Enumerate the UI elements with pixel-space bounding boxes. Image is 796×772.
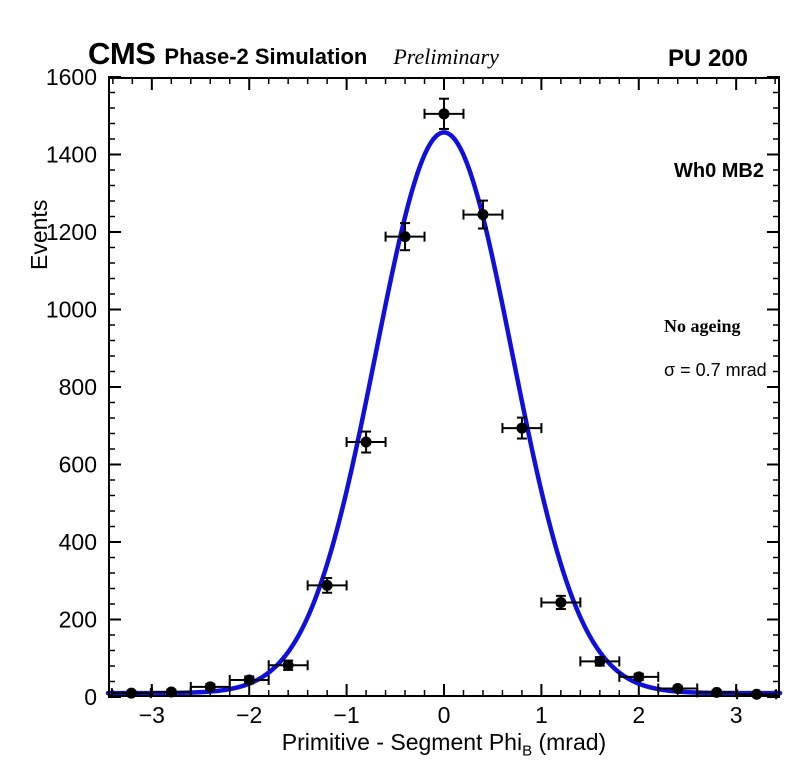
data-point — [751, 689, 762, 700]
data-point — [555, 597, 566, 608]
data-point — [594, 656, 605, 667]
svg-text:2: 2 — [632, 702, 645, 728]
gaussian-fit-curve — [108, 132, 780, 693]
y-tick-label: 1400 — [46, 142, 97, 168]
svg-text:1: 1 — [535, 702, 548, 728]
cms-subtitle: Phase-2 Simulation — [164, 46, 367, 68]
data-point — [244, 674, 255, 685]
svg-text:−2: −2 — [236, 702, 262, 728]
svg-text:−1: −1 — [333, 702, 359, 728]
data-point — [361, 437, 372, 448]
cms-logo: CMS — [88, 38, 155, 69]
y-tick-label: 1200 — [46, 219, 97, 245]
pileup-label: PU 200 — [668, 47, 748, 71]
y-tick-label: 600 — [59, 452, 97, 478]
axis-tick-labels: −3−2−1012302004006008001000120014001600 — [46, 64, 743, 728]
scenario-label: No ageing — [664, 316, 741, 337]
error-bars — [112, 99, 776, 700]
svg-text:0: 0 — [438, 702, 451, 728]
svg-text:3: 3 — [730, 702, 743, 728]
x-axis-title: Primitive - Segment PhiB (mrad) — [108, 729, 780, 756]
phi-subscript: B — [522, 743, 532, 760]
y-tick-label: 800 — [59, 374, 97, 400]
svg-text:−3: −3 — [139, 702, 165, 728]
y-tick-label: 200 — [59, 607, 97, 633]
data-point — [322, 580, 333, 591]
data-point — [633, 671, 644, 682]
data-point — [400, 231, 411, 242]
data-point — [439, 108, 450, 119]
data-markers — [126, 108, 762, 699]
y-tick-label: 1000 — [46, 297, 97, 323]
cms-preliminary-tag: Preliminary — [393, 46, 499, 68]
data-point — [477, 209, 488, 220]
data-point — [672, 683, 683, 694]
data-point — [516, 423, 527, 434]
cms-header: CMS Phase-2 Simulation Preliminary PU 20… — [88, 38, 748, 72]
data-point — [205, 681, 216, 692]
chamber-label: Wh0 MB2 — [674, 160, 764, 183]
y-tick-label: 0 — [84, 684, 97, 710]
resolution-label: σ = 0.7 mrad — [664, 360, 767, 381]
y-tick-label: 400 — [59, 529, 97, 555]
data-point — [283, 660, 294, 671]
y-tick-label: 1600 — [46, 64, 97, 90]
plot-frame: −3−2−1012302004006008001000120014001600 … — [108, 77, 780, 697]
